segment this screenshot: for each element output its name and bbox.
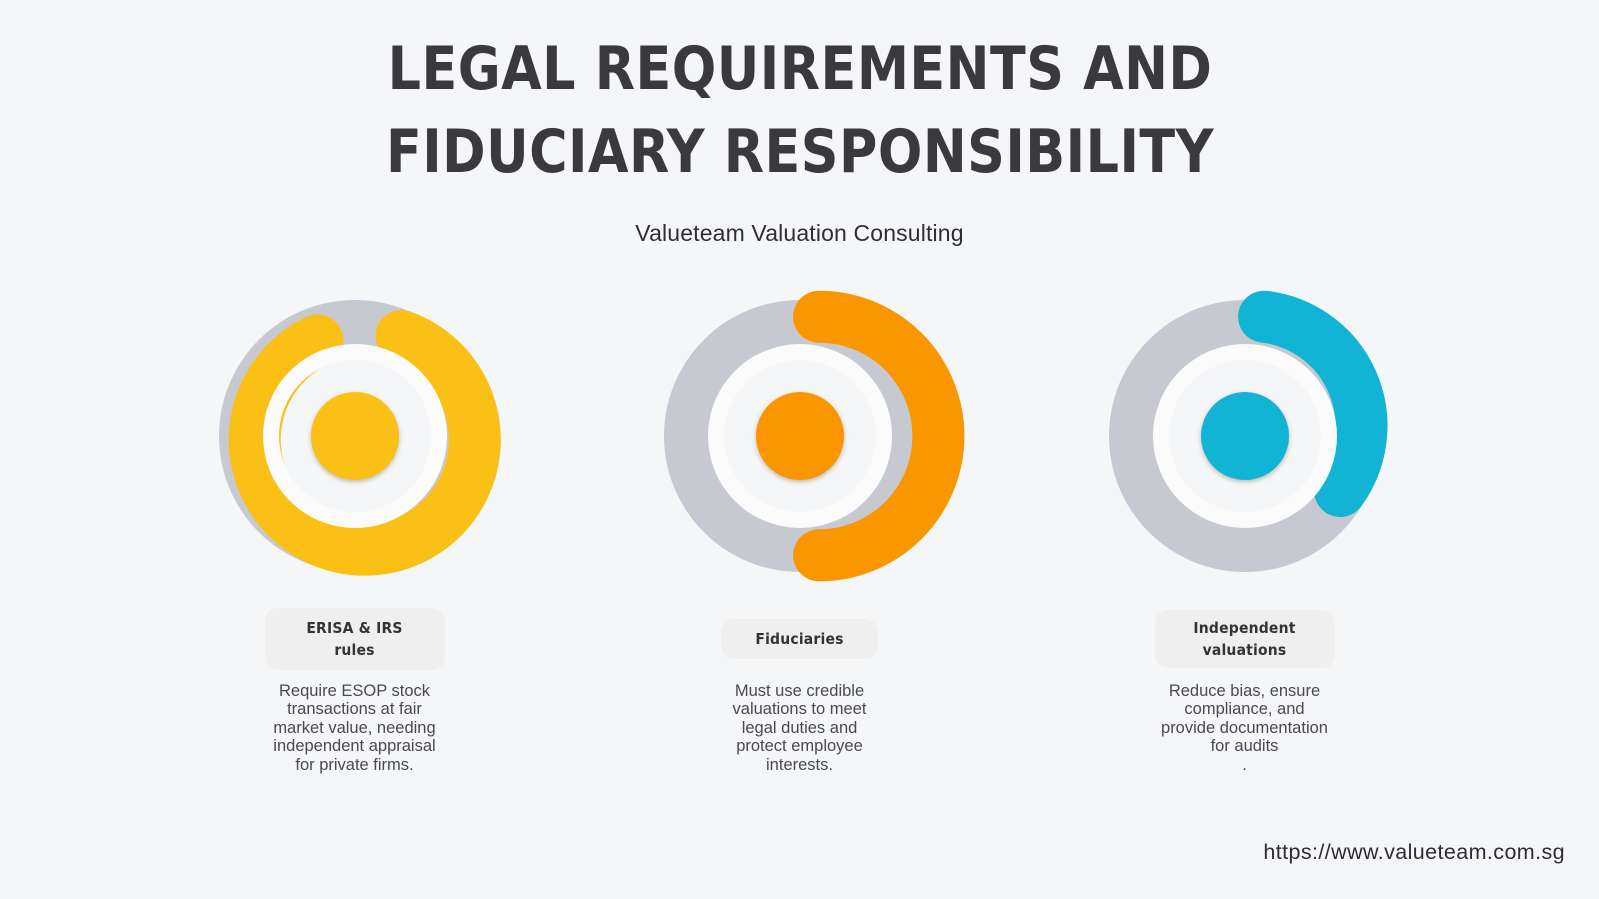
description-independent-valuations: Reduce bias, ensure compliance, and prov…	[1137, 682, 1353, 774]
status-badge-erisa: ERISA & IRS rules	[265, 608, 445, 671]
status-badge-independent-valuations: Independent valuations	[1155, 610, 1335, 669]
donut-center-disc-2	[756, 392, 844, 480]
infographic-column-fiduciaries: Fiduciaries Must use credible valuations…	[577, 296, 1022, 774]
description-fiduciaries: Must use credible valuations to meet leg…	[700, 682, 900, 774]
pill-row-independent-valuations: Independent valuations	[1022, 610, 1467, 668]
donut-chart-fiduciaries	[660, 296, 940, 576]
page-subtitle: Valueteam Valuation Consulting	[0, 220, 1599, 247]
infographic-column-independent-valuations: Independent valuations Reduce bias, ensu…	[1022, 296, 1467, 774]
status-badge-fiduciaries: Fiduciaries	[721, 619, 877, 659]
header: LEGAL REQUIREMENTS AND FIDUCIARY RESPONS…	[0, 0, 1599, 247]
website-url[interactable]: https://www.valueteam.com.sg	[1263, 840, 1565, 865]
pill-row-erisa: ERISA & IRS rules	[132, 610, 577, 668]
donut-center-disc-1	[311, 392, 399, 480]
infographic-columns: ERISA & IRS rules Require ESOP stock tra…	[0, 296, 1599, 774]
donut-chart-erisa	[215, 296, 495, 576]
infographic-column-erisa: ERISA & IRS rules Require ESOP stock tra…	[132, 296, 577, 774]
donut-center-disc-3	[1201, 392, 1289, 480]
description-erisa: Require ESOP stock transactions at fair …	[255, 682, 455, 774]
page-title: LEGAL REQUIREMENTS AND FIDUCIARY RESPONS…	[227, 28, 1372, 194]
pill-row-fiduciaries: Fiduciaries	[577, 610, 1022, 668]
donut-chart-independent-valuations	[1105, 296, 1385, 576]
